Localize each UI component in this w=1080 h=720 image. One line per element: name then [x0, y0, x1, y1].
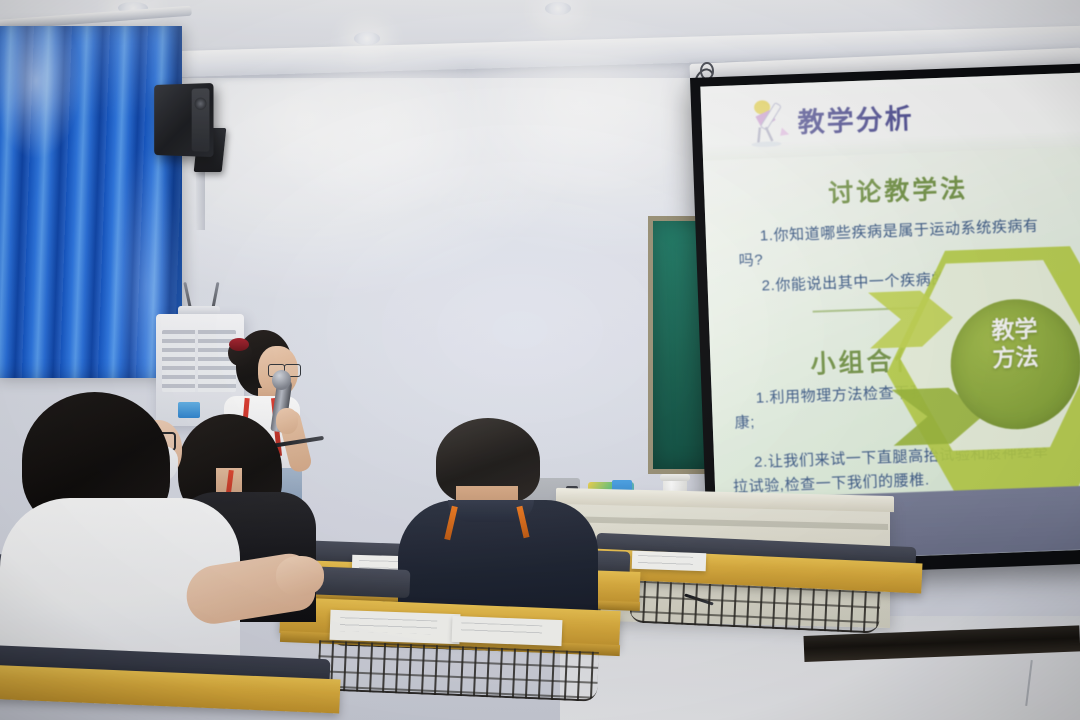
- ceiling-downlight: [545, 2, 571, 15]
- blue-curtain: [0, 26, 182, 378]
- paper-lines: [461, 622, 543, 637]
- ac-brand-badge: [178, 402, 200, 418]
- presentation-slide: 教学分析 讨论教学法 1.你知道哪些疾病是属于运动系统疾病有吗? 2.你能说出其…: [700, 72, 1080, 563]
- woman1-hand: [276, 556, 324, 596]
- slide-section1-heading: 讨论教学法: [828, 169, 969, 210]
- ceiling-downlight: [354, 32, 380, 45]
- teaching-method-badge: 教学 方法: [882, 239, 1080, 498]
- ac-vent-divider: [195, 330, 198, 392]
- paper-lines: [340, 617, 437, 634]
- ac-vent-grille: [162, 330, 236, 392]
- screen-surface: 教学分析 讨论教学法 1.你知道哪些疾病是属于运动系统疾病有吗? 2.你能说出其…: [700, 72, 1080, 563]
- coffee-cup-lid: [660, 474, 690, 481]
- curtain-sheen: [0, 26, 182, 378]
- person-with-pencil-icon: [745, 95, 795, 149]
- desk-paper: [330, 610, 461, 645]
- badge-label: 教学 方法: [949, 313, 1080, 374]
- desk-paper: [632, 551, 707, 572]
- speaker-cone-icon: [195, 98, 207, 110]
- slide-title: 教学分析: [797, 97, 914, 140]
- presenter-scrunchie: [229, 338, 249, 351]
- wall-speaker: [154, 83, 213, 157]
- paper-lines: [638, 555, 693, 565]
- presenter-hand: [276, 408, 298, 434]
- desk-paper: [452, 616, 563, 646]
- badge-label-line2: 方法: [950, 341, 1080, 374]
- classroom-photo: 教学分析 讨论教学法 1.你知道哪些疾病是属于运动系统疾病有吗? 2.你能说出其…: [0, 0, 1080, 720]
